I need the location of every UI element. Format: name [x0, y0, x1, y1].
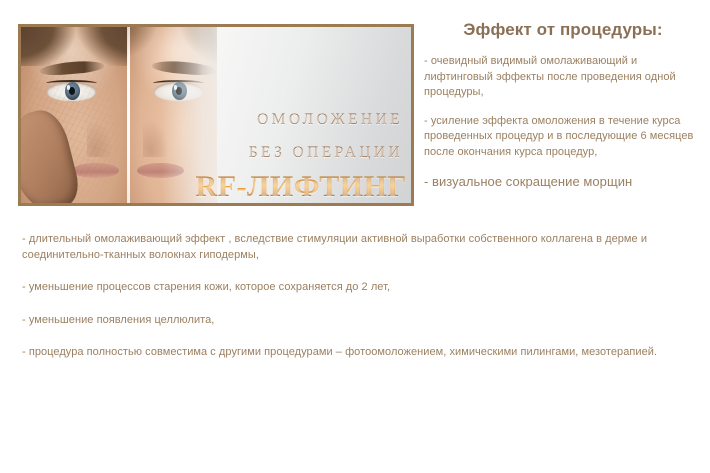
- effect-item-2: - усиление эффекта омоложения в течение …: [424, 114, 702, 161]
- benefit-item-4: - процедура полностью совместима с други…: [22, 345, 698, 361]
- effect-item-3: - визуальное сокращение морщин: [424, 173, 702, 190]
- benefits-list: - длительный омолаживающий эффект , всле…: [22, 232, 698, 378]
- banner-headline-1: ОМОЛОЖЕНИЕ: [257, 111, 403, 129]
- before-after-divider: [127, 27, 130, 203]
- benefit-item-1: - длительный омолаживающий эффект , всле…: [22, 232, 698, 263]
- benefit-item-2: - уменьшение процессов старения кожи, ко…: [22, 280, 698, 296]
- effects-title: Эффект от процедуры:: [424, 20, 702, 40]
- banner-overlay-text: ОМОЛОЖЕНИЕ БЕЗ ОПЕРАЦИИ RF-ЛИФТИНГ: [217, 27, 411, 203]
- banner-headline-2: БЕЗ ОПЕРАЦИИ: [249, 144, 403, 162]
- effect-item-1: - очевидный видимый омолаживающий и лифт…: [424, 54, 702, 101]
- hero-banner: ОМОЛОЖЕНИЕ БЕЗ ОПЕРАЦИИ RF-ЛИФТИНГ: [18, 24, 414, 206]
- photo-half-before: [21, 27, 128, 203]
- benefit-item-3: - уменьшение появления целлюлита,: [22, 313, 698, 329]
- banner-headline-3: RF-ЛИФТИНГ: [196, 170, 407, 204]
- effects-column: Эффект от процедуры: - очевидный видимый…: [424, 20, 702, 203]
- hero-banner-inner: ОМОЛОЖЕНИЕ БЕЗ ОПЕРАЦИИ RF-ЛИФТИНГ: [21, 27, 411, 203]
